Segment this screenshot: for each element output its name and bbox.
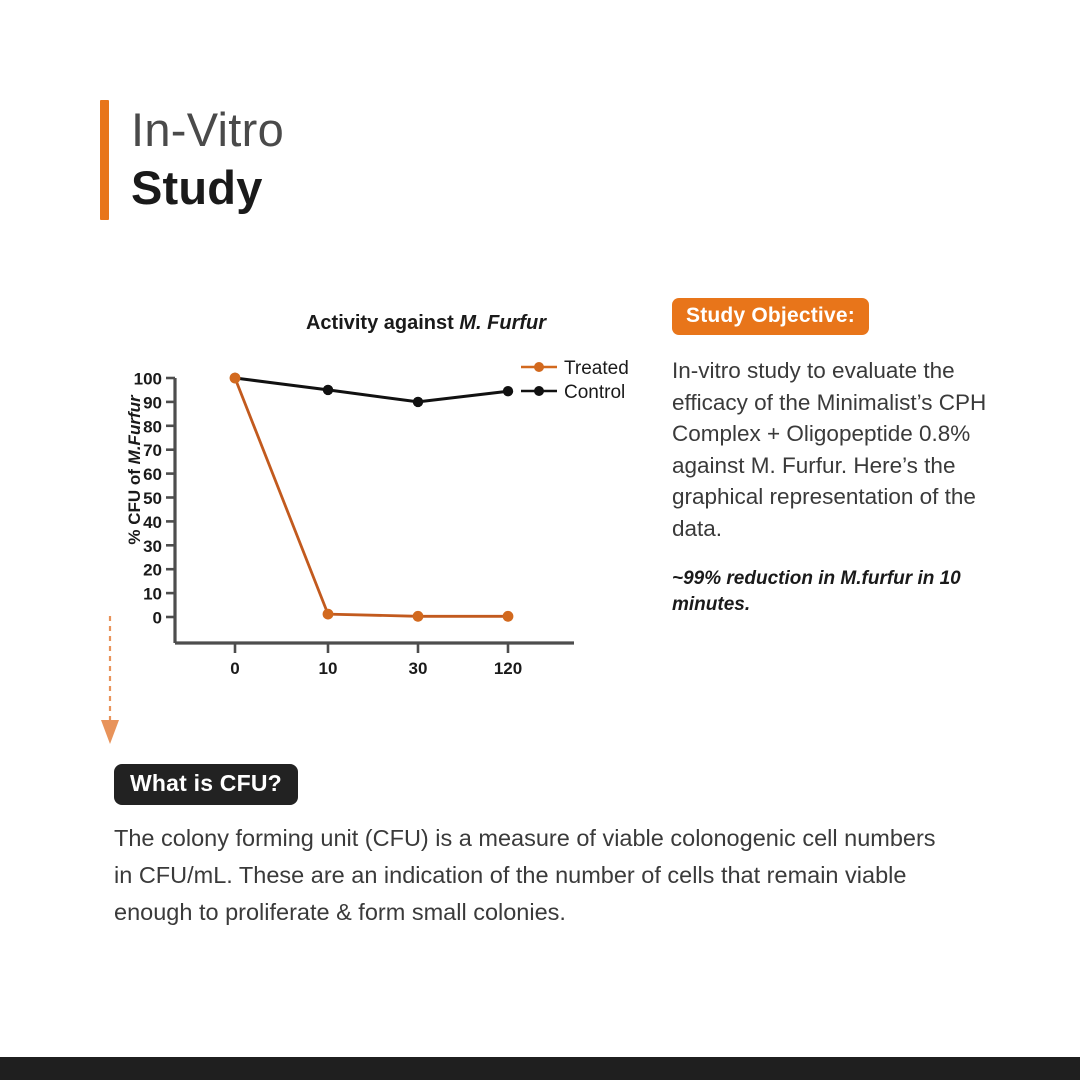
bottom-bar bbox=[0, 1057, 1080, 1080]
y-tick-label: 70 bbox=[143, 441, 162, 460]
data-point-control bbox=[323, 385, 333, 395]
page-root: In-Vitro Study Activity against M. Furfu… bbox=[0, 0, 1080, 1080]
cfu-badge: What is CFU? bbox=[114, 764, 298, 805]
page-title-line1: In-Vitro bbox=[131, 105, 284, 154]
series-points-control bbox=[230, 373, 513, 407]
page-title-line2: Study bbox=[131, 161, 284, 215]
data-point-control bbox=[413, 397, 423, 407]
series-line-treated bbox=[235, 378, 508, 616]
arrow-head bbox=[101, 720, 119, 744]
y-tick-label: 60 bbox=[143, 465, 162, 484]
data-point-control bbox=[503, 386, 513, 396]
x-tick-label: 30 bbox=[409, 659, 428, 678]
dashed-down-arrow-icon bbox=[95, 612, 135, 752]
study-objective-note: ~99% reduction in M.furfur in 10 minutes… bbox=[672, 566, 1002, 618]
chart-panel: Activity against M. Furfur % CFU of M.Fu… bbox=[96, 300, 671, 690]
y-tick-label: 100 bbox=[134, 370, 162, 389]
legend-label-control: Control bbox=[564, 382, 625, 403]
data-point-treated bbox=[323, 609, 334, 620]
chart-legend: Treated Control bbox=[521, 358, 629, 403]
x-tick-label: 10 bbox=[319, 659, 338, 678]
data-point-treated bbox=[503, 611, 514, 622]
y-tick-label: 0 bbox=[153, 609, 162, 628]
study-objective-badge: Study Objective: bbox=[672, 298, 869, 335]
x-tick-label: 0 bbox=[230, 659, 239, 678]
y-tick-label: 40 bbox=[143, 513, 162, 532]
y-tick-label: 30 bbox=[143, 537, 162, 556]
data-point-treated bbox=[413, 611, 424, 622]
cfu-body-text: The colony forming unit (CFU) is a measu… bbox=[114, 820, 959, 931]
series-points-treated bbox=[230, 373, 514, 622]
y-tick-label: 50 bbox=[143, 489, 162, 508]
header-text-group: In-Vitro Study bbox=[131, 100, 284, 220]
study-objective-panel: Study Objective: In-vitro study to evalu… bbox=[672, 298, 1002, 618]
data-point-treated bbox=[230, 373, 241, 384]
series-line-control bbox=[235, 378, 508, 402]
y-tick-label: 90 bbox=[143, 393, 162, 412]
study-objective-body: In-vitro study to evaluate the efficacy … bbox=[672, 355, 1002, 544]
y-tick-label: 20 bbox=[143, 561, 162, 580]
x-tick-label: 120 bbox=[494, 659, 522, 678]
page-header: In-Vitro Study bbox=[100, 100, 284, 220]
y-tick-label: 10 bbox=[143, 585, 162, 604]
y-axis-tick-labels: 100 90 80 70 60 50 40 30 20 10 0 bbox=[134, 370, 162, 628]
y-tick-label: 80 bbox=[143, 417, 162, 436]
x-axis-tick-labels: 0 10 30 120 bbox=[230, 659, 522, 678]
chart-plot-area: 100 90 80 70 60 50 40 30 20 10 0 bbox=[96, 300, 671, 690]
legend-label-treated: Treated bbox=[564, 358, 629, 379]
legend-swatch-marker-control bbox=[534, 386, 544, 396]
legend-swatch-marker-treated bbox=[534, 362, 544, 372]
header-accent-bar bbox=[100, 100, 109, 220]
